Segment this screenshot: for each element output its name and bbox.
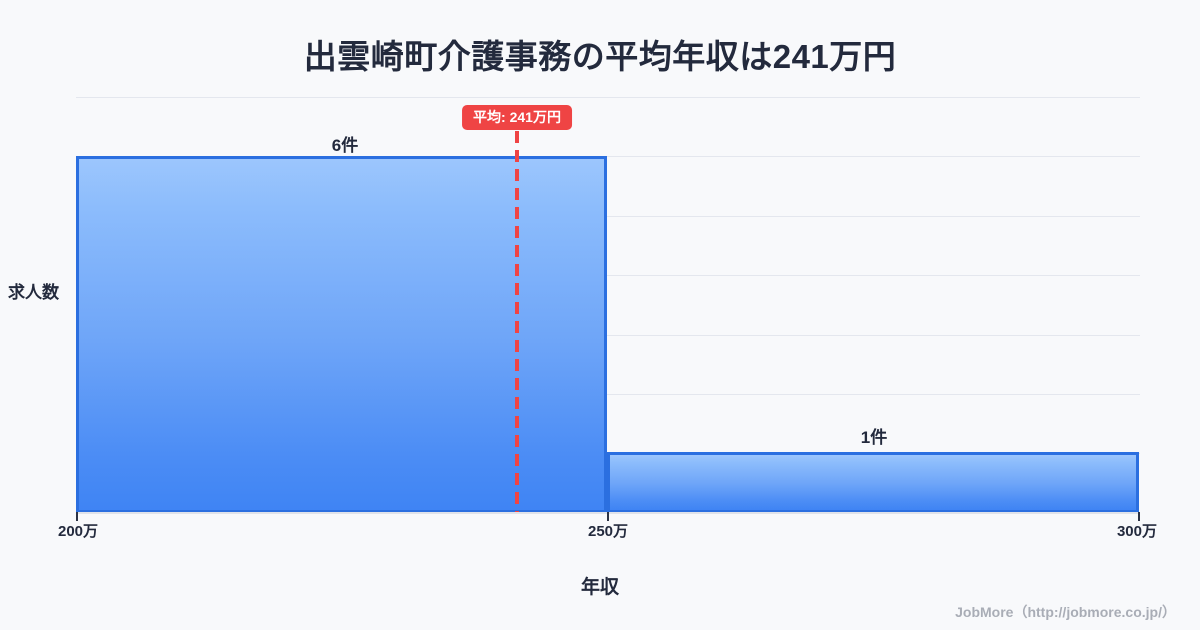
page-title: 出雲崎町介護事務の平均年収は241万円 <box>0 30 1200 78</box>
average-badge: 平均: 241万円 <box>462 105 572 130</box>
footer-credit: JobMore（http://jobmore.co.jp/） <box>955 602 1176 622</box>
x-axis-label: 年収 <box>0 572 1200 599</box>
average-dashed-line <box>515 131 519 513</box>
chart-page: 出雲崎町介護事務の平均年収は241万円 6件 1件 平均: 241万円 200万… <box>0 0 1200 630</box>
plot-area <box>76 97 1140 513</box>
x-tick-label-250: 250万 <box>588 520 628 541</box>
bar-250-300[interactable] <box>607 452 1139 513</box>
y-axis-label: 求人数 <box>8 278 59 303</box>
x-tick-label-300: 300万 <box>1117 520 1157 541</box>
bar-label-250-300: 1件 <box>861 423 887 448</box>
bar-label-200-250: 6件 <box>332 131 358 156</box>
gridline-7 <box>76 97 1140 98</box>
bar-200-250[interactable] <box>76 156 607 513</box>
x-tick-label-200: 200万 <box>58 520 98 541</box>
